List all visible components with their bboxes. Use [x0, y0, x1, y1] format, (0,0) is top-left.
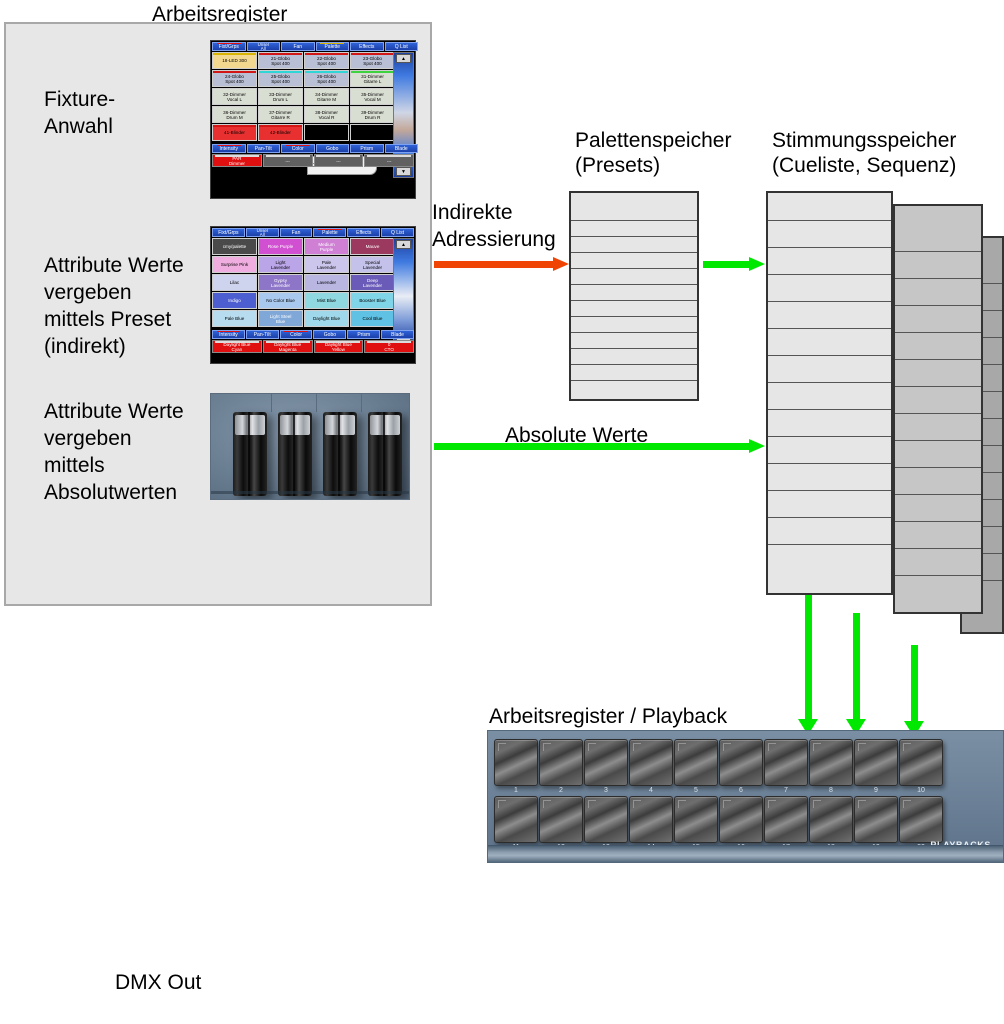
- fixture-cell-6[interactable]: 26-Globo Spot 400: [304, 70, 349, 87]
- fixture-attr-tab-1[interactable]: Pan-Tilt: [247, 144, 281, 153]
- fixture-cell-marker-16: [213, 125, 256, 127]
- fixture-cell-marker-9: [259, 89, 302, 91]
- playback-key-highlight-6: [723, 743, 731, 751]
- fixture-cell-label-4: 24-Globo Spot 400: [225, 74, 244, 84]
- fixture-cell-marker-17: [259, 125, 302, 127]
- palette-cell-15[interactable]: Booster Blue: [350, 292, 395, 309]
- palette-tab-label-3: Palette: [322, 230, 338, 236]
- cue-memory-2-row[interactable]: [895, 441, 981, 468]
- fixture-cell-marker-5: [259, 71, 302, 73]
- fixture-cell-label-3: 23-Globo Spot 400: [363, 56, 382, 66]
- encoder-wheels-panel[interactable]: [210, 393, 410, 500]
- palettenspeicher-title: Palettenspeicher (Presets): [575, 128, 731, 178]
- playback-key-number-5: 5: [674, 787, 718, 794]
- fixture-tab-label-1: Unsel All: [258, 42, 269, 51]
- cue-memory-1-row[interactable]: [768, 545, 891, 572]
- fixture-cell-marker-12: [213, 107, 256, 109]
- playback-key-number-7: 7: [764, 787, 808, 794]
- palette-cell-label-9: Gypsy Lavender: [271, 278, 290, 288]
- palette-scrollbar[interactable]: ▲ ▼: [393, 238, 414, 344]
- fixture-attr-marker-2: [286, 144, 310, 146]
- cue-memory-1-row[interactable]: [768, 302, 891, 329]
- palette-memory-row[interactable]: [571, 381, 697, 397]
- palette-tab-0[interactable]: Fixt/Grps: [212, 228, 245, 237]
- fixture-tab-marker-0: [217, 42, 241, 44]
- fixture-cell-marker-0: [213, 53, 256, 55]
- palette-cell-label-1: Rose Purple: [268, 244, 293, 249]
- palette-encoder-row[interactable]: Daylight Blue CyanDaylight Blue MagentaD…: [211, 340, 415, 354]
- playback-key-5[interactable]: [674, 739, 718, 786]
- fixture-cell-5[interactable]: 25-Globo Spot 400: [258, 70, 303, 87]
- palette-encoder-label-0: Daylight Blue Cyan: [223, 342, 250, 352]
- scroll-down-icon[interactable]: ▼: [396, 167, 411, 176]
- fixture-encoder-3[interactable]: ---: [364, 154, 414, 167]
- scroll-up-icon[interactable]: ▲: [396, 54, 411, 63]
- palette-cell-16[interactable]: Pale Blue: [212, 310, 257, 327]
- playback-key-highlight-14: [633, 800, 641, 808]
- label-fixture-anwahl: Fixture- Anwahl: [44, 86, 115, 140]
- playback-key-8[interactable]: [809, 739, 853, 786]
- fixture-tab-3[interactable]: Palette: [316, 42, 350, 51]
- fixture-cell-label-13: 37-Dimmer Gitarre R: [269, 110, 292, 120]
- fixture-cell-9[interactable]: 33-Dimmer Drum L: [258, 88, 303, 105]
- fixture-cell-label-12: 36-Dimmer Drum M: [223, 110, 246, 120]
- stimmungsspeicher-title: Stimmungsspeicher (Cueliste, Sequenz): [772, 128, 956, 178]
- palette-encoder-label-1: Daylight Blue Magenta: [274, 342, 301, 352]
- fixture-cell-marker-19: [351, 125, 394, 127]
- palette-tab-row[interactable]: Fixt/GrpsUnsel AllFanPaletteEffectsQ Lis…: [211, 227, 415, 237]
- palette-cell-12[interactable]: Indigo: [212, 292, 257, 309]
- palette-cell-1[interactable]: Rose Purple: [258, 238, 303, 255]
- fixture-cell-16[interactable]: 41-Blinder: [212, 124, 257, 141]
- playback-key-9[interactable]: [854, 739, 898, 786]
- fixture-cell-label-2: 22-Globo Spot 400: [317, 56, 336, 66]
- fixture-cell-marker-13: [259, 107, 302, 109]
- palette-memory-row[interactable]: [571, 253, 697, 269]
- fixture-cell-marker-2: [305, 53, 348, 55]
- cue-memory-2-row[interactable]: [895, 306, 981, 333]
- palette-encoder-marker-3: [367, 341, 411, 343]
- playback-key-7[interactable]: [764, 739, 808, 786]
- playback-key-6[interactable]: [719, 739, 763, 786]
- scroll-up-icon[interactable]: ▲: [396, 240, 411, 249]
- palette-cell-label-14: Mist Blue: [317, 298, 336, 303]
- palette-cell-7[interactable]: Special Lavender: [350, 256, 395, 273]
- encoder-wheel-2[interactable]: [278, 412, 312, 496]
- palette-tab-label-0: Fixt/Grps: [218, 230, 238, 236]
- palette-encoder-0[interactable]: Daylight Blue Cyan: [212, 340, 262, 353]
- fixture-attr-label-3: Gobo: [326, 146, 338, 152]
- label-dmx-out: DMX Out: [115, 969, 201, 996]
- playback-key-number-1: 1: [494, 787, 538, 794]
- fixture-cell-1[interactable]: 21-Globo Spot 400: [258, 52, 303, 69]
- fixture-encoder-marker-1: [266, 155, 310, 157]
- fixture-cell-label-7: 31-Dimmer Gitarre L: [361, 74, 384, 84]
- fixture-tab-label-5: Q List: [395, 44, 408, 50]
- palette-cell-5[interactable]: Light Lavender: [258, 256, 303, 273]
- playback-key-14[interactable]: [629, 796, 673, 843]
- palette-cell-11[interactable]: Deep Lavender: [350, 274, 395, 291]
- cue-memory-2-row[interactable]: [895, 468, 981, 495]
- playback-key-highlight-8: [813, 743, 821, 751]
- label-absolut-werte: Attribute Werte vergeben mittels Absolut…: [44, 398, 184, 506]
- fixture-cell-label-5: 25-Globo Spot 400: [271, 74, 290, 84]
- palette-cell-2[interactable]: Medium Purple: [304, 238, 349, 255]
- fixture-cell-14[interactable]: 38-Dimmer Vocal R: [304, 106, 349, 123]
- cue-memory-2-row[interactable]: [895, 495, 981, 522]
- arrow-indirect-addressing: [434, 261, 569, 268]
- fixture-cell-marker-10: [305, 89, 348, 91]
- palette-cell-6[interactable]: Pale Lavender: [304, 256, 349, 273]
- fixture-attr-label-4: Prism: [360, 146, 373, 152]
- playback-key-17[interactable]: [764, 796, 808, 843]
- palette-encoder-2[interactable]: Daylight Blue Yellow: [314, 340, 364, 353]
- fixture-attr-label-5: Blade: [395, 146, 408, 152]
- playback-key-highlight-11: [498, 800, 506, 808]
- palette-memory-row[interactable]: [571, 349, 697, 365]
- palette-encoder-3[interactable]: 0 CTO: [364, 340, 414, 353]
- palette-cell-label-5: Light Lavender: [271, 260, 290, 270]
- palette-cell-label-4: Surprise Pink: [221, 262, 248, 267]
- fixture-cell-label-16: 41-Blinder: [224, 130, 245, 135]
- fixture-cell-2[interactable]: 22-Globo Spot 400: [304, 52, 349, 69]
- cue-memory-2-row[interactable]: [895, 522, 981, 549]
- palette-attr-label-5: Blade: [391, 332, 404, 338]
- palette-cell-8[interactable]: Lilac: [212, 274, 257, 291]
- fixture-encoder-label-1: ---: [285, 159, 290, 164]
- fixture-cell-marker-8: [213, 89, 256, 91]
- fixture-attr-label-0: Intensity: [219, 146, 238, 152]
- palette-memory-row[interactable]: [571, 301, 697, 317]
- cue-memory-2-row[interactable]: [895, 387, 981, 414]
- palette-encoder-marker-0: [215, 341, 259, 343]
- cue-memory-1-row[interactable]: [768, 221, 891, 248]
- fixture-cell-label-15: 39-Dimmer Drum R: [361, 110, 384, 120]
- fixture-cell-7[interactable]: 31-Dimmer Gitarre L: [350, 70, 395, 87]
- encoder-wheel-3[interactable]: [323, 412, 357, 496]
- cue-memory-1-row[interactable]: [768, 275, 891, 302]
- cue-memory-2-row[interactable]: [895, 360, 981, 387]
- encoder-wheel-4[interactable]: [368, 412, 402, 496]
- fixture-encoder-label-3: ---: [387, 159, 392, 164]
- playback-key-12[interactable]: [539, 796, 583, 843]
- cue-memory-1-row[interactable]: [768, 518, 891, 545]
- palette-cell-label-18: Daylight Blue: [313, 316, 340, 321]
- palette-cell-13[interactable]: No Color Blue: [258, 292, 303, 309]
- fixture-tab-5[interactable]: Q List: [385, 42, 419, 51]
- playback-key-highlight-4: [633, 743, 641, 751]
- fixture-attr-tab-5[interactable]: Blade: [385, 144, 419, 153]
- fixture-cell-label-1: 21-Globo Spot 400: [271, 56, 290, 66]
- console-front-lip: [488, 845, 1003, 862]
- fixture-cell-marker-7: [351, 71, 394, 73]
- palette-attr-tab-5[interactable]: Blade: [381, 330, 414, 339]
- fixture-cell-label-9: 33-Dimmer Drum L: [269, 92, 292, 102]
- label-indirekte-adressierung: Indirekte Adressierung: [432, 199, 556, 253]
- playback-key-11[interactable]: [494, 796, 538, 843]
- palette-cell-9[interactable]: Gypsy Lavender: [258, 274, 303, 291]
- palette-memory-row[interactable]: [571, 333, 697, 349]
- palette-tab-2[interactable]: Fan: [280, 228, 313, 237]
- palette-cell-label-11: Deep Lavender: [363, 278, 382, 288]
- palette-encoder-label-2: Daylight Blue Yellow: [325, 342, 352, 352]
- cue-memory-2-row[interactable]: [895, 414, 981, 441]
- fixture-tab-2[interactable]: Fan: [281, 42, 315, 51]
- encoder-wheel-1[interactable]: [233, 412, 267, 496]
- cue-memory-1-row[interactable]: [768, 437, 891, 464]
- playback-key-19[interactable]: [854, 796, 898, 843]
- palette-attr-tab-2[interactable]: Color: [280, 330, 313, 339]
- fixture-encoder-2[interactable]: ---: [314, 154, 364, 167]
- playback-key-highlight-5: [678, 743, 686, 751]
- fixture-tab-1[interactable]: Unsel All: [247, 42, 281, 51]
- playback-key-18[interactable]: [809, 796, 853, 843]
- cue-memory-1-row[interactable]: [768, 356, 891, 383]
- fixture-button-grid[interactable]: 18-LED 30021-Globo Spot 40022-Globo Spot…: [211, 51, 396, 142]
- palette-attr-tab-0[interactable]: Intensity: [212, 330, 245, 339]
- fixture-cell-12[interactable]: 36-Dimmer Drum M: [212, 106, 257, 123]
- palette-cell-10[interactable]: Lavender: [304, 274, 349, 291]
- color-palette-touchscreen[interactable]: Fixt/GrpsUnsel AllFanPaletteEffectsQ Lis…: [210, 226, 416, 364]
- fixture-cell-8[interactable]: 32-Dimmer Vocal L: [212, 88, 257, 105]
- cue-memory-2-row[interactable]: [895, 549, 981, 576]
- playback-key-4[interactable]: [629, 739, 673, 786]
- playback-row-bottom[interactable]: [494, 796, 943, 843]
- playback-key-number-8: 8: [809, 787, 853, 794]
- cue-memory-1-row[interactable]: [768, 464, 891, 491]
- palette-cell-label-8: Lilac: [230, 280, 239, 285]
- palette-memory-row[interactable]: [571, 365, 697, 381]
- cue-memory-stack-1[interactable]: [766, 191, 893, 595]
- cue-memory-2-header-row[interactable]: [895, 206, 981, 252]
- palette-cell-label-3: Mauve: [366, 244, 380, 249]
- fixture-selection-touchscreen[interactable]: Fixt/GrpsUnsel AllFanPaletteEffectsQ Lis…: [210, 40, 416, 199]
- playback-key-highlight-19: [858, 800, 866, 808]
- cue-memory-1-row[interactable]: [768, 491, 891, 518]
- fixture-encoder-marker-0: [215, 155, 259, 157]
- fixture-encoder-label-0: PAR Dimmer: [229, 156, 245, 166]
- palette-cell-label-16: Pale Blue: [225, 316, 245, 321]
- playback-row-top[interactable]: [494, 739, 943, 786]
- palette-cell-label-13: No Color Blue: [266, 298, 295, 303]
- fixture-tab-label-4: Effects: [359, 44, 374, 50]
- palette-tab-4[interactable]: Effects: [347, 228, 380, 237]
- palette-cell-0[interactable]: cmy/palette: [212, 238, 257, 255]
- palette-attr-tab-4[interactable]: Prism: [347, 330, 380, 339]
- fixture-cell-label-8: 32-Dimmer Vocal L: [223, 92, 246, 102]
- palette-tab-1[interactable]: Unsel All: [246, 228, 279, 237]
- fixture-cell-10[interactable]: 34-Dimmer Gitarre M: [304, 88, 349, 105]
- fixture-attr-tab-3[interactable]: Gobo: [316, 144, 350, 153]
- fixture-encoder-marker-3: [367, 155, 411, 157]
- fixture-tab-label-3: Palette: [324, 44, 340, 50]
- fixture-tab-marker-3: [320, 42, 344, 44]
- playback-key-16[interactable]: [719, 796, 763, 843]
- playback-key-highlight-12: [543, 800, 551, 808]
- fixture-encoder-row[interactable]: PAR Dimmer---------: [211, 154, 415, 168]
- palette-memory-row[interactable]: [571, 317, 697, 333]
- fixture-tab-label-2: Fan: [293, 44, 302, 50]
- fixture-tab-4[interactable]: Effects: [350, 42, 384, 51]
- palette-encoder-marker-2: [316, 341, 360, 343]
- playback-key-highlight-16: [723, 800, 731, 808]
- playback-key-number-2: 2: [539, 787, 583, 794]
- fixture-cell-label-6: 26-Globo Spot 400: [317, 74, 336, 84]
- fixture-attr-marker-0: [217, 144, 241, 146]
- cue-memory-1-row[interactable]: [768, 383, 891, 410]
- palette-cell-14[interactable]: Mist Blue: [304, 292, 349, 309]
- fixture-cell-label-0: 18-LED 300: [222, 58, 247, 63]
- fixture-cell-17[interactable]: 42-Blinder: [258, 124, 303, 141]
- palette-cell-19[interactable]: Cool Blue: [350, 310, 395, 327]
- palette-tab-label-2: Fan: [292, 230, 301, 236]
- playback-key-13[interactable]: [584, 796, 628, 843]
- palette-tab-label-4: Effects: [356, 230, 371, 236]
- playback-key-1[interactable]: [494, 739, 538, 786]
- palette-tab-label-1: Unsel All: [257, 228, 268, 237]
- playback-key-highlight-9: [858, 743, 866, 751]
- playback-key-3[interactable]: [584, 739, 628, 786]
- fixture-encoder-label-2: ---: [336, 159, 341, 164]
- arrow-to-playback-9: [911, 645, 918, 737]
- palette-encoder-1[interactable]: Daylight Blue Magenta: [263, 340, 313, 353]
- palette-attr-tab-3[interactable]: Gobo: [313, 330, 346, 339]
- fixture-cell-marker-1: [259, 53, 302, 55]
- fixture-cell-18[interactable]: [304, 124, 349, 141]
- fixture-tab-row[interactable]: Fixt/GrpsUnsel AllFanPaletteEffectsQ Lis…: [211, 41, 419, 51]
- playback-key-2[interactable]: [539, 739, 583, 786]
- fixture-cell-label-10: 34-Dimmer Gitarre M: [315, 92, 338, 102]
- palette-cell-18[interactable]: Daylight Blue: [304, 310, 349, 327]
- fixture-tab-label-0: Fixt/Grps: [219, 44, 239, 50]
- playback-key-highlight-15: [678, 800, 686, 808]
- palette-cell-label-19: Cool Blue: [363, 316, 383, 321]
- palette-attr-label-3: Gobo: [324, 332, 336, 338]
- fixture-cell-label-14: 38-Dimmer Vocal R: [315, 110, 338, 120]
- palette-cell-label-2: Medium Purple: [318, 242, 334, 252]
- playback-title: Arbeitsregister / Playback: [489, 704, 727, 729]
- fixture-cell-marker-18: [305, 125, 348, 127]
- palette-attr-tab-1[interactable]: Pan-Tilt: [246, 330, 279, 339]
- playback-console[interactable]: 12345678910 11121314151617181920 PLAYBAC…: [487, 730, 1004, 863]
- palette-memory-stack[interactable]: [569, 191, 699, 401]
- palette-cell-label-17: Light Steel Blue: [270, 314, 292, 324]
- playback-key-number-4: 4: [629, 787, 673, 794]
- palette-button-grid[interactable]: cmy/paletteRose PurpleMedium PurpleMauve…: [211, 237, 396, 328]
- playback-key-highlight-13: [588, 800, 596, 808]
- playback-key-number-9: 9: [854, 787, 898, 794]
- fixture-encoder-0[interactable]: PAR Dimmer: [212, 154, 262, 167]
- fixture-attr-tab-2[interactable]: Color: [281, 144, 315, 153]
- fixture-encoder-marker-2: [316, 155, 360, 157]
- fixture-cell-marker-3: [351, 53, 394, 55]
- cue-memory-stack-2[interactable]: [893, 204, 983, 614]
- palette-encoder-marker-1: [266, 341, 310, 343]
- fixture-attribute-tab-row[interactable]: IntensityPan-TiltColorGoboPrismBlade: [211, 143, 419, 153]
- palette-attr-label-4: Prism: [357, 332, 370, 338]
- fixture-attr-tab-0[interactable]: Intensity: [212, 144, 246, 153]
- playback-key-number-3: 3: [584, 787, 628, 794]
- palette-tab-marker-3: [318, 228, 341, 230]
- palette-cell-3[interactable]: Mauve: [350, 238, 395, 255]
- palette-attr-marker-0: [217, 330, 240, 332]
- playback-key-highlight-3: [588, 743, 596, 751]
- palette-attr-label-0: Intensity: [219, 332, 238, 338]
- palette-cell-17[interactable]: Light Steel Blue: [258, 310, 303, 327]
- playback-key-highlight-20: [903, 800, 911, 808]
- fixture-cell-marker-14: [305, 107, 348, 109]
- fixture-cell-4[interactable]: 24-Globo Spot 400: [212, 70, 257, 87]
- playback-key-number-10: 10: [899, 787, 943, 794]
- palette-attr-label-2: Color: [290, 332, 302, 338]
- palette-tab-3[interactable]: Palette: [313, 228, 346, 237]
- fixture-cell-15[interactable]: 39-Dimmer Drum R: [350, 106, 395, 123]
- playback-key-highlight-1: [498, 743, 506, 751]
- palette-encoder-label-3: 0 CTO: [384, 342, 394, 352]
- fixture-cell-label-17: 42-Blinder: [270, 130, 291, 135]
- playback-key-10[interactable]: [899, 739, 943, 786]
- palette-memory-row[interactable]: [571, 285, 697, 301]
- cue-memory-1-row[interactable]: [768, 248, 891, 275]
- cue-memory-2-row[interactable]: [895, 252, 981, 279]
- fixture-tab-0[interactable]: Fixt/Grps: [212, 42, 246, 51]
- cue-memory-1-row[interactable]: [768, 329, 891, 356]
- fixture-encoder-1[interactable]: ---: [263, 154, 313, 167]
- fixture-attr-tab-4[interactable]: Prism: [350, 144, 384, 153]
- fixture-cell-marker-6: [305, 71, 348, 73]
- playback-key-highlight-10: [903, 743, 911, 751]
- fixture-cell-11[interactable]: 35-Dimmer Vocal M: [350, 88, 395, 105]
- cue-memory-1-header-row[interactable]: [768, 193, 891, 221]
- cue-memory-2-row[interactable]: [895, 279, 981, 306]
- cue-memory-2-row[interactable]: [895, 333, 981, 360]
- palette-cell-4[interactable]: Surprise Pink: [212, 256, 257, 273]
- palette-tab-5[interactable]: Q List: [381, 228, 414, 237]
- fixture-cell-marker-4: [213, 71, 256, 73]
- palette-cell-label-0: cmy/palette: [223, 244, 247, 249]
- palette-attr-marker-2: [284, 330, 307, 332]
- playback-key-highlight-2: [543, 743, 551, 751]
- label-preset-werte: Attribute Werte vergeben mittels Preset …: [44, 252, 184, 360]
- cue-memory-1-row[interactable]: [768, 410, 891, 437]
- fixture-cell-marker-15: [351, 107, 394, 109]
- palette-tab-label-5: Q List: [391, 230, 404, 236]
- palette-attribute-tab-row[interactable]: IntensityPan-TiltColorGoboPrismBlade: [211, 329, 415, 339]
- palette-attr-label-1: Pan-Tilt: [254, 332, 271, 338]
- palette-cell-label-12: Indigo: [228, 298, 241, 303]
- fixture-cell-3[interactable]: 23-Globo Spot 400: [350, 52, 395, 69]
- playback-key-highlight-18: [813, 800, 821, 808]
- fixture-cell-marker-11: [351, 89, 394, 91]
- palette-memory-row[interactable]: [571, 237, 697, 253]
- cue-memory-2-row[interactable]: [895, 576, 981, 603]
- palette-memory-row[interactable]: [571, 221, 697, 237]
- fixture-cell-0[interactable]: 18-LED 300: [212, 52, 257, 69]
- fixture-cell-19[interactable]: [350, 124, 395, 141]
- playback-key-20[interactable]: [899, 796, 943, 843]
- palette-memory-header-row[interactable]: [571, 193, 697, 221]
- palette-cell-label-6: Pale Lavender: [317, 260, 336, 270]
- fixture-cell-label-11: 35-Dimmer Vocal M: [361, 92, 384, 102]
- playback-key-15[interactable]: [674, 796, 718, 843]
- fixture-attr-label-1: Pan-Tilt: [255, 146, 272, 152]
- fixture-cell-13[interactable]: 37-Dimmer Gitarre R: [258, 106, 303, 123]
- arrow-absolute-values: [434, 443, 765, 450]
- palette-cell-label-7: Special Lavender: [363, 260, 382, 270]
- palette-cell-label-15: Booster Blue: [359, 298, 385, 303]
- playback-key-highlight-17: [768, 800, 776, 808]
- palette-memory-row[interactable]: [571, 269, 697, 285]
